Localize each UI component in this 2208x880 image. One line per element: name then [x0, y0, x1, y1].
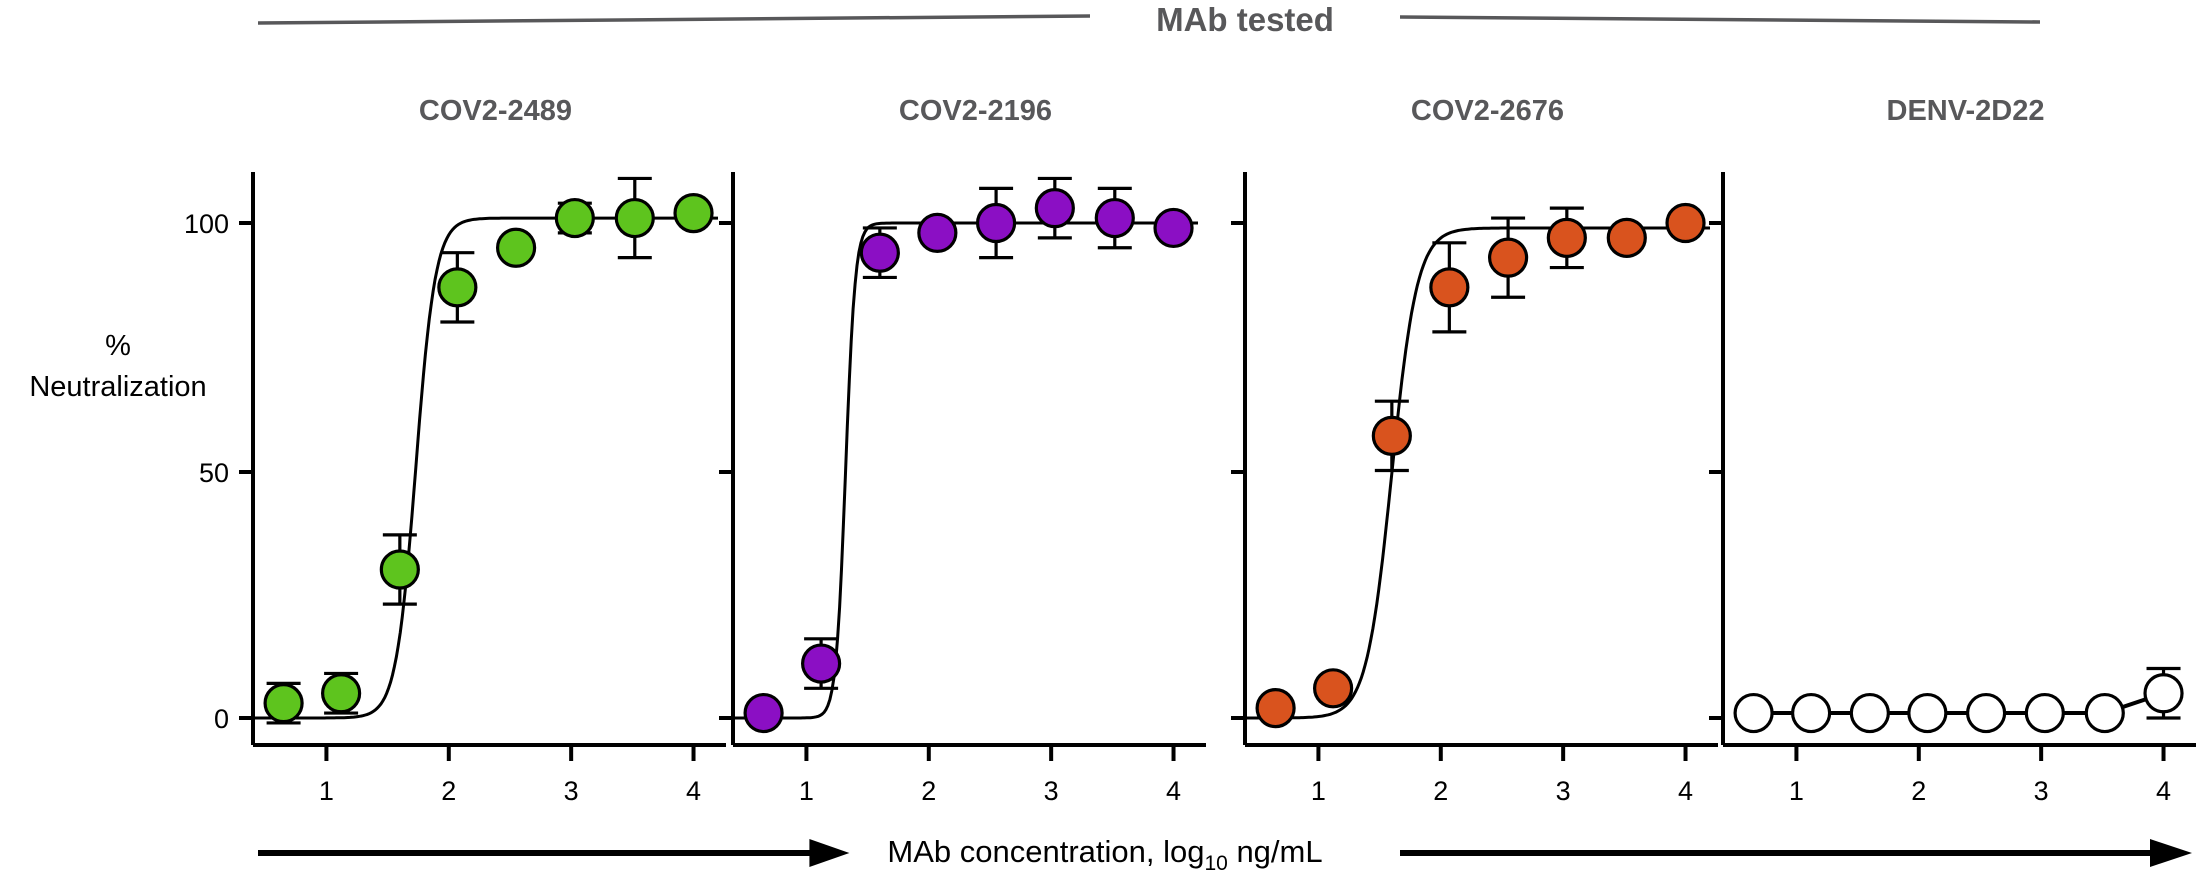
fit-curve [1245, 228, 1710, 718]
x-tick-label: 3 [1556, 776, 1571, 806]
data-point [2086, 695, 2123, 732]
fit-curve [253, 218, 718, 718]
data-point [1909, 695, 1946, 732]
data-point [1851, 695, 1888, 732]
x-tick-label: 1 [1789, 776, 1804, 806]
data-point [1373, 417, 1410, 454]
x-tick-label: 3 [564, 776, 579, 806]
data-point [803, 645, 840, 682]
x-tick-label: 2 [921, 776, 936, 806]
x-tick-label: 2 [441, 776, 456, 806]
y-axis-label-line1: % [105, 330, 131, 362]
data-point [556, 200, 593, 237]
data-point [265, 685, 302, 722]
y-axis-label-line2: Neutralization [29, 371, 206, 403]
data-point [616, 200, 653, 237]
data-point [1096, 200, 1133, 237]
panel-title: COV2-2676 [1411, 95, 1564, 127]
data-point [2026, 695, 2063, 732]
data-point [439, 269, 476, 306]
header-rule-left [258, 16, 1090, 23]
data-point [498, 229, 535, 266]
data-point [978, 205, 1015, 242]
panel-1 [239, 172, 726, 761]
fit-curve [733, 223, 1198, 718]
data-point [745, 695, 782, 732]
header-rule-right [1400, 17, 2040, 22]
data-point [1667, 205, 1704, 242]
panel-2 [719, 172, 1206, 761]
panel-title: DENV-2D22 [1887, 95, 2045, 127]
x-axis-arrow-left-head [809, 839, 849, 867]
data-point [1548, 219, 1585, 256]
data-point [1793, 695, 1830, 732]
panel-title: COV2-2489 [419, 95, 572, 127]
x-tick-label: 1 [799, 776, 814, 806]
panel-title: COV2-2196 [899, 95, 1052, 127]
panel-4 [1709, 172, 2196, 761]
group-header: MAb tested [1156, 1, 1334, 38]
x-axis-arrow-right-head [2150, 839, 2192, 867]
data-point [1315, 670, 1352, 707]
x-tick-label: 4 [1166, 776, 1181, 806]
data-point [861, 234, 898, 271]
x-tick-label: 4 [1678, 776, 1693, 806]
data-point [675, 195, 712, 232]
x-tick-label: 4 [2156, 776, 2171, 806]
data-point [1036, 190, 1073, 227]
figure-root: MAb tested%NeutralizationCOV2-2489100500… [0, 0, 2208, 880]
x-tick-label: 3 [2034, 776, 2049, 806]
x-tick-label: 2 [1911, 776, 1926, 806]
data-point [2145, 675, 2182, 712]
data-point [1431, 269, 1468, 306]
data-point [1490, 239, 1527, 276]
data-point [1968, 695, 2005, 732]
x-axis-label: MAb concentration, log10 ng/mL [887, 834, 1322, 875]
y-tick-label: 100 [184, 209, 229, 239]
y-tick-label: 0 [214, 704, 229, 734]
x-tick-label: 3 [1044, 776, 1059, 806]
x-tick-label: 1 [319, 776, 334, 806]
x-tick-label: 4 [686, 776, 701, 806]
x-tick-label: 1 [1311, 776, 1326, 806]
data-point [1257, 690, 1294, 727]
figure-canvas: MAb tested%NeutralizationCOV2-2489100500… [0, 0, 2208, 880]
x-tick-label: 2 [1433, 776, 1448, 806]
data-point [1735, 695, 1772, 732]
data-point [381, 551, 418, 588]
data-point [1608, 219, 1645, 256]
panel-3 [1231, 172, 1718, 761]
data-point [1155, 209, 1192, 246]
data-point [323, 675, 360, 712]
data-point [919, 214, 956, 251]
y-tick-label: 50 [199, 458, 229, 488]
